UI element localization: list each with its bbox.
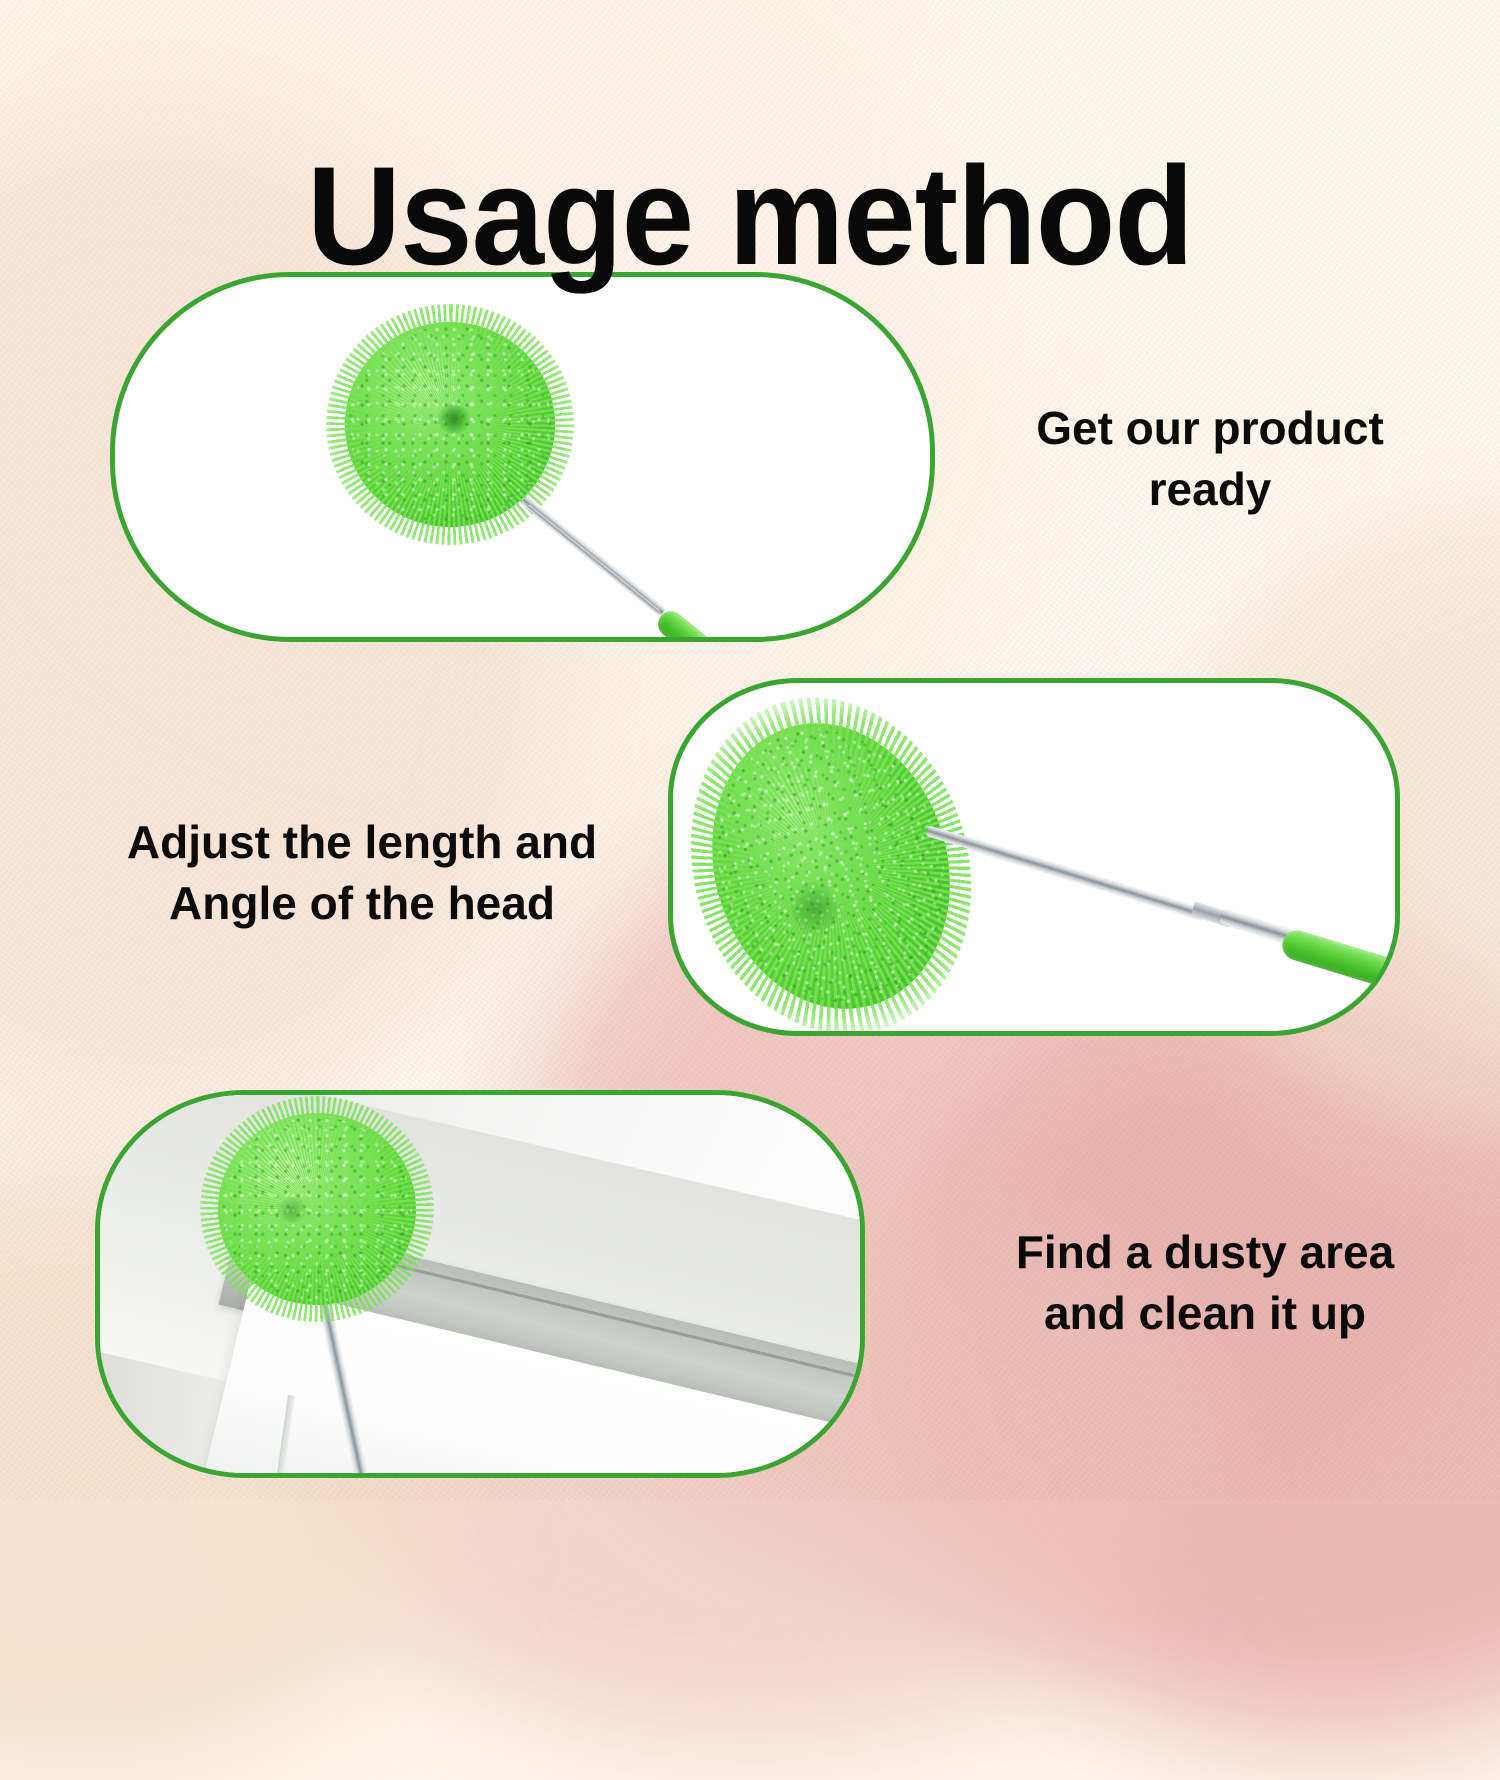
duster-head-icon — [218, 1113, 416, 1305]
duster-metal-rod-inner — [525, 504, 660, 615]
step-1-caption-line-1: Get our product — [1000, 398, 1420, 459]
step-1-image-panel — [110, 272, 935, 642]
step-3-caption-line-1: Find a dusty area — [995, 1222, 1415, 1283]
duster-head-icon — [345, 322, 555, 527]
step-2-image-panel — [668, 678, 1400, 1036]
step-3-usage-photo — [100, 1095, 860, 1473]
page-title: Usage method — [53, 146, 1448, 286]
step-2-caption: Adjust the length and Angle of the head — [112, 812, 612, 933]
duster-green-grip — [653, 606, 794, 642]
step-3-image-panel — [95, 1090, 865, 1478]
step-1-caption-line-2: ready — [1000, 459, 1420, 520]
step-1-product-photo — [115, 277, 930, 637]
step-2-caption-line-1: Adjust the length and — [112, 812, 612, 873]
duster-green-grip — [1279, 927, 1400, 1000]
step-3-caption: Find a dusty area and clean it up — [995, 1222, 1415, 1343]
duster-head-angled-icon — [678, 693, 985, 1036]
step-1-caption: Get our product ready — [1000, 398, 1420, 519]
step-2-product-photo — [673, 683, 1395, 1031]
step-2-caption-line-2: Angle of the head — [112, 873, 612, 934]
step-3-caption-line-2: and clean it up — [995, 1283, 1415, 1344]
